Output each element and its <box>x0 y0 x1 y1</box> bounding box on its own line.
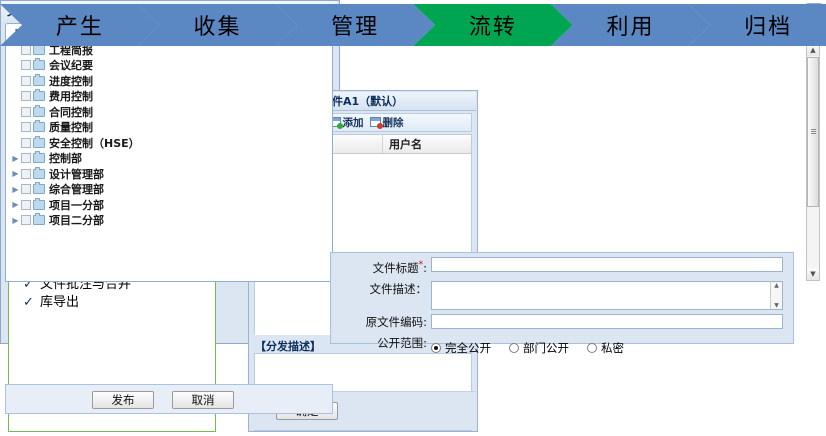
folder-icon <box>33 200 45 210</box>
textarea-scrollbar[interactable]: ▲▼ <box>770 282 782 309</box>
tree-checkbox[interactable] <box>21 153 31 163</box>
process-step-1[interactable]: 产生 <box>0 4 160 46</box>
required-marker: * <box>419 260 424 270</box>
tree-node-label: 设计管理部 <box>49 166 104 182</box>
check-icon: ✓ <box>23 295 40 310</box>
feature-item-label: 库导出 <box>40 295 79 310</box>
file-title-input[interactable] <box>431 257 783 272</box>
form-row-title: 文件标题*: <box>331 257 783 277</box>
publish-folder-tree[interactable]: 工程简报会议纪要进度控制费用控制合同控制质量控制安全控制（HSE）▶控制部▶设计… <box>5 42 333 282</box>
scope-radio-3[interactable] <box>587 343 597 353</box>
tree-checkbox[interactable] <box>21 138 31 148</box>
scroll-down-icon[interactable]: ▼ <box>807 268 819 280</box>
folder-icon <box>33 169 45 179</box>
scope-radio-label: 部门公开 <box>523 340 569 356</box>
window-delete-icon <box>370 117 382 128</box>
folder-icon <box>33 122 45 132</box>
tree-checkbox[interactable] <box>21 184 31 194</box>
file-desc-label-text: 文件描述 <box>370 282 416 296</box>
scope-radio-1[interactable] <box>431 343 441 353</box>
tree-node[interactable]: ▶项目二分部 <box>6 213 332 229</box>
toolbar-item-label: 添加 <box>343 115 364 130</box>
process-step-label: 管理 <box>331 9 379 41</box>
tree-node-label: 控制部 <box>49 150 82 166</box>
folder-icon <box>33 184 45 194</box>
tree-node[interactable]: 合同控制 <box>6 104 332 120</box>
expand-arrow-icon[interactable]: ▶ <box>10 200 21 209</box>
cancel-button[interactable]: 取消 <box>172 391 234 409</box>
process-step-label: 归档 <box>744 9 792 41</box>
folder-icon <box>33 107 45 117</box>
file-desc-textarea[interactable]: ▲▼ <box>431 281 783 310</box>
process-step-5[interactable]: 利用 <box>551 4 711 46</box>
tree-node-label: 会议纪要 <box>49 57 93 73</box>
tree-checkbox[interactable] <box>21 122 31 132</box>
folder-icon <box>33 91 45 101</box>
folder-icon <box>33 45 45 55</box>
grid-header-user-name: 用户名 <box>383 135 471 153</box>
tree-checkbox[interactable] <box>21 60 31 70</box>
scope-label: 公开范围: <box>331 335 431 352</box>
feature-item-8: ✓库导出 <box>23 295 203 310</box>
tree-node-label: 合同控制 <box>49 104 93 120</box>
tree-node[interactable]: 安全控制（HSE） <box>6 135 332 151</box>
orig-code-label: 原文件编码: <box>331 314 431 331</box>
tree-checkbox[interactable] <box>21 91 31 101</box>
file-title-label-text: 文件标题 <box>373 261 419 275</box>
tree-node[interactable]: 质量控制 <box>6 120 332 136</box>
publish-footer: 发布 取消 <box>5 384 333 414</box>
scroll-down-icon[interactable]: ▼ <box>774 302 779 309</box>
process-step-3[interactable]: 管理 <box>275 4 435 46</box>
scroll-up-icon[interactable]: ▲ <box>774 282 779 289</box>
tree-checkbox[interactable] <box>21 215 31 225</box>
tree-checkbox[interactable] <box>21 200 31 210</box>
folder-icon <box>33 76 45 86</box>
tree-node-label: 安全控制（HSE） <box>49 135 140 151</box>
tree-node-label: 质量控制 <box>49 119 93 135</box>
form-row-origcode: 原文件编码: <box>331 314 783 331</box>
expand-arrow-icon[interactable]: ▶ <box>10 169 21 178</box>
toolbar-delete[interactable]: 删除 <box>370 115 404 130</box>
tree-node-label: 项目一分部 <box>49 197 104 213</box>
form-row-scope: 公开范围: 完全公开部门公开私密 <box>331 335 783 356</box>
tree-node-label: 费用控制 <box>49 88 93 104</box>
expand-arrow-icon[interactable]: ▶ <box>10 216 21 225</box>
tree-checkbox[interactable] <box>21 76 31 86</box>
publish-form-modal: 文件标题*: 文件描述： ▲▼ 原文件编码: 公开范围: 完全公开部门公开私密 <box>330 252 794 344</box>
tree-node-label: 综合管理部 <box>49 181 104 197</box>
tree-node-label: 进度控制 <box>49 73 93 89</box>
expand-arrow-icon[interactable]: ▶ <box>10 154 21 163</box>
tree-node[interactable]: 费用控制 <box>6 89 332 105</box>
folder-icon <box>33 215 45 225</box>
process-step-2[interactable]: 收集 <box>138 4 298 46</box>
tree-checkbox[interactable] <box>21 107 31 117</box>
orig-code-input[interactable] <box>431 314 783 329</box>
file-desc-label: 文件描述： <box>331 281 431 298</box>
process-step-label: 流转 <box>469 9 517 41</box>
process-step-4[interactable]: 流转 <box>413 4 573 46</box>
tree-node[interactable]: 进度控制 <box>6 73 332 89</box>
expand-arrow-icon[interactable]: ▶ <box>10 185 21 194</box>
tree-node[interactable]: 会议纪要 <box>6 58 332 74</box>
distribution-desc-label: 【分发描述】 <box>255 338 321 354</box>
process-chevron-bar: 产生收集管理流转利用归档 <box>0 4 826 46</box>
scope-radio-group[interactable]: 完全公开部门公开私密 <box>431 340 638 356</box>
scope-radio-label: 完全公开 <box>445 340 491 356</box>
process-step-label: 收集 <box>193 9 241 41</box>
file-title-label: 文件标题*: <box>331 257 431 277</box>
publish-tree-scrollbar[interactable]: ▲ ▼ <box>806 43 820 281</box>
publish-button[interactable]: 发布 <box>92 391 154 409</box>
toolbar-item-label: 删除 <box>383 115 404 130</box>
tree-node[interactable]: ▶项目一分部 <box>6 197 332 213</box>
scope-radio-2[interactable] <box>509 343 519 353</box>
process-step-label: 产生 <box>56 9 104 41</box>
tree-node[interactable]: ▶综合管理部 <box>6 182 332 198</box>
folder-icon <box>33 60 45 70</box>
toolbar-add[interactable]: 添加 <box>330 115 364 130</box>
process-step-label: 利用 <box>606 9 654 41</box>
tree-node-label: 项目二分部 <box>49 212 104 228</box>
tree-node[interactable]: ▶控制部 <box>6 151 332 167</box>
scrollbar-thumb[interactable] <box>807 57 819 207</box>
tree-checkbox[interactable] <box>21 169 31 179</box>
folder-icon <box>33 153 45 163</box>
tree-checkbox[interactable] <box>21 45 31 55</box>
form-row-desc: 文件描述： ▲▼ <box>331 281 783 310</box>
scope-radio-label: 私密 <box>601 340 624 356</box>
orig-code-label-text: 原文件编码 <box>366 315 424 329</box>
tree-node[interactable]: ▶设计管理部 <box>6 166 332 182</box>
folder-icon <box>33 138 45 148</box>
